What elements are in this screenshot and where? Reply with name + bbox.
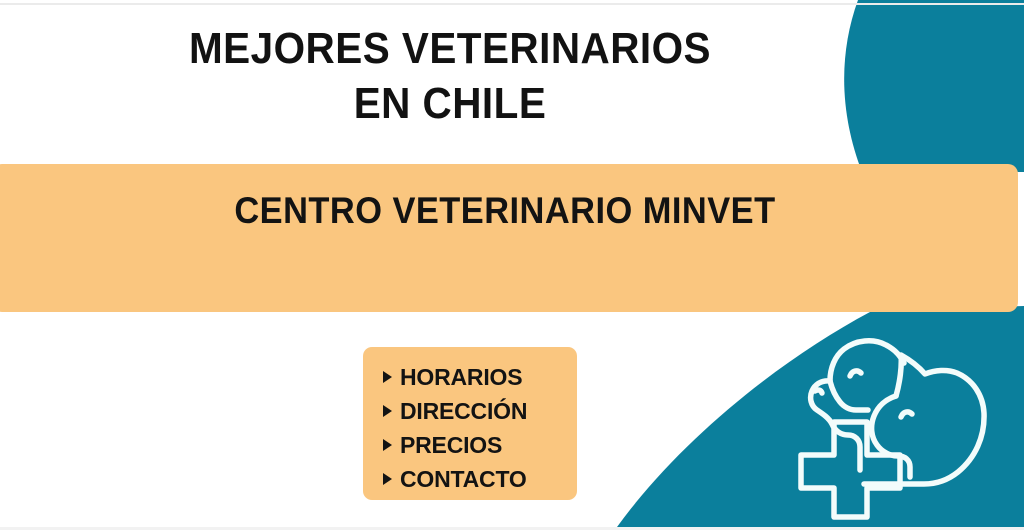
clinic-name-band: CENTRO VETERINARIO MINVET	[0, 164, 1018, 312]
cat-muzzle	[872, 396, 910, 477]
page-title-line2: EN CHILE	[36, 79, 864, 128]
menu-item-label: DIRECCIÓN	[400, 398, 527, 425]
page-title-line1: MEJORES VETERINARIOS	[36, 24, 864, 73]
info-menu-card: HORARIOS DIRECCIÓN PRECIOS CONTACTO	[363, 347, 577, 500]
dog-ear	[830, 381, 868, 410]
menu-item-label: PRECIOS	[400, 432, 502, 459]
cat-silhouette	[864, 355, 984, 484]
page-title: MEJORES VETERINARIOS EN CHILE	[0, 24, 900, 129]
cat-eye	[901, 412, 912, 417]
menu-item-horarios[interactable]: HORARIOS	[383, 360, 577, 394]
menu-item-contacto[interactable]: CONTACTO	[383, 462, 577, 496]
triangle-bullet-icon	[383, 371, 392, 383]
top-divider	[0, 3, 1024, 5]
dog-nose	[815, 390, 822, 393]
triangle-bullet-icon	[383, 405, 392, 417]
dog-cat-medical-cross-icon	[772, 336, 992, 521]
clinic-name: CENTRO VETERINARIO MINVET	[234, 190, 775, 232]
triangle-bullet-icon	[383, 439, 392, 451]
dog-head-top	[830, 341, 904, 381]
menu-item-direccion[interactable]: DIRECCIÓN	[383, 394, 577, 428]
menu-item-label: HORARIOS	[400, 364, 522, 391]
triangle-bullet-icon	[383, 473, 392, 485]
menu-item-precios[interactable]: PRECIOS	[383, 428, 577, 462]
dog-eye	[850, 371, 861, 376]
menu-item-label: CONTACTO	[400, 466, 527, 493]
banner-canvas: MEJORES VETERINARIOS EN CHILE CENTRO VET…	[0, 0, 1024, 530]
